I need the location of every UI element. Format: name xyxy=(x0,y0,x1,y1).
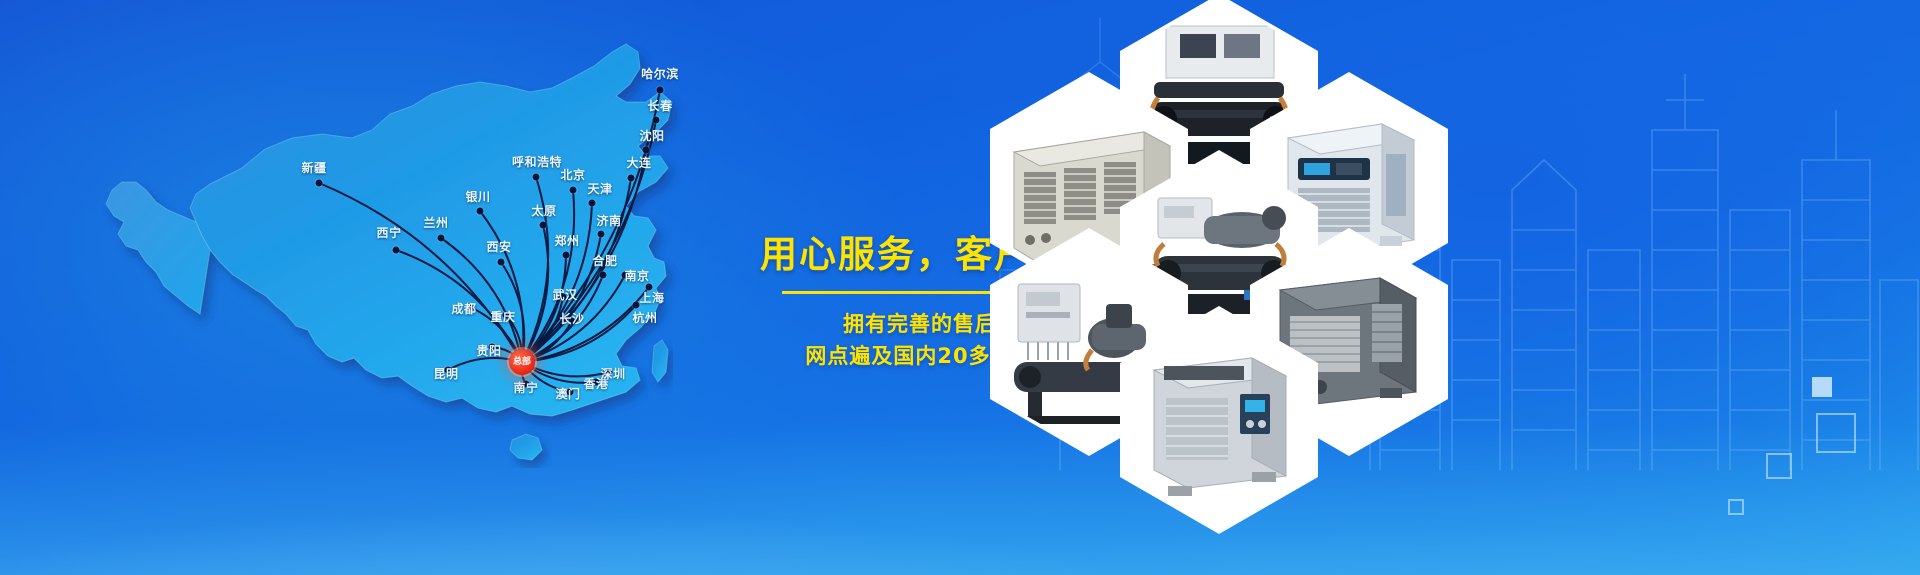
headquarters-hub-marker[interactable]: 总部 xyxy=(509,349,535,375)
hub-label: 总部 xyxy=(513,358,531,367)
city-label: 新疆 xyxy=(301,159,326,176)
city-marker-dot[interactable] xyxy=(657,87,664,94)
map-hainan xyxy=(510,434,542,460)
city-marker-dot[interactable] xyxy=(628,175,635,182)
promo-banner: 哈尔滨长春沈阳大连呼和浩特北京天津新疆银川太原西宁兰州济南郑州西安合肥南京上海武… xyxy=(0,0,1920,575)
city-label: 重庆 xyxy=(490,308,515,325)
city-marker-dot[interactable] xyxy=(653,117,660,124)
city-marker-dot[interactable] xyxy=(589,200,596,207)
city-label: 武汉 xyxy=(552,286,577,303)
city-label: 昆明 xyxy=(433,365,458,382)
city-label: 南京 xyxy=(624,267,649,284)
city-marker-dot[interactable] xyxy=(498,259,505,266)
city-label: 郑州 xyxy=(554,232,579,249)
city-marker-dot[interactable] xyxy=(633,302,640,309)
decor-square-medium xyxy=(1766,453,1792,479)
city-label: 长沙 xyxy=(559,310,584,327)
city-marker-dot[interactable] xyxy=(477,208,484,215)
city-label: 大连 xyxy=(626,154,651,171)
city-label: 杭州 xyxy=(632,309,657,326)
city-marker-dot[interactable] xyxy=(438,235,445,242)
map-taiwan xyxy=(652,340,668,382)
city-marker-dot[interactable] xyxy=(533,174,540,181)
city-marker-dot[interactable] xyxy=(316,180,323,187)
city-label: 呼和浩特 xyxy=(512,153,562,170)
city-label: 深圳 xyxy=(600,365,625,382)
city-label: 长春 xyxy=(647,97,672,114)
city-label: 上海 xyxy=(639,289,664,306)
city-label: 天津 xyxy=(587,180,612,197)
city-marker-dot[interactable] xyxy=(598,231,605,238)
city-label: 西宁 xyxy=(376,224,401,241)
decor-square-small xyxy=(1728,499,1744,515)
product-hex-grid xyxy=(960,0,1580,575)
city-marker-dot[interactable] xyxy=(643,147,650,154)
city-label: 太原 xyxy=(531,202,556,219)
city-marker-dot[interactable] xyxy=(540,222,547,229)
city-marker-dot[interactable] xyxy=(563,252,570,259)
city-label: 哈尔滨 xyxy=(641,65,679,82)
city-label: 兰州 xyxy=(423,214,448,231)
city-marker-dot[interactable] xyxy=(570,187,577,194)
city-label: 澳门 xyxy=(555,385,580,402)
city-label: 济南 xyxy=(596,212,621,229)
city-marker-dot[interactable] xyxy=(393,247,400,254)
city-label: 成都 xyxy=(451,300,476,317)
city-label: 南宁 xyxy=(513,379,538,396)
city-label: 银川 xyxy=(465,188,490,205)
city-label: 贵阳 xyxy=(476,342,501,359)
city-marker-dot[interactable] xyxy=(600,272,607,279)
decor-square-large xyxy=(1816,413,1856,453)
city-label: 合肥 xyxy=(592,252,617,269)
china-service-map: 哈尔滨长春沈阳大连呼和浩特北京天津新疆银川太原西宁兰州济南郑州西安合肥南京上海武… xyxy=(60,10,760,450)
city-label: 北京 xyxy=(560,166,585,183)
city-label: 西安 xyxy=(486,238,511,255)
city-label: 沈阳 xyxy=(639,127,664,144)
decor-square-filled xyxy=(1812,377,1832,397)
